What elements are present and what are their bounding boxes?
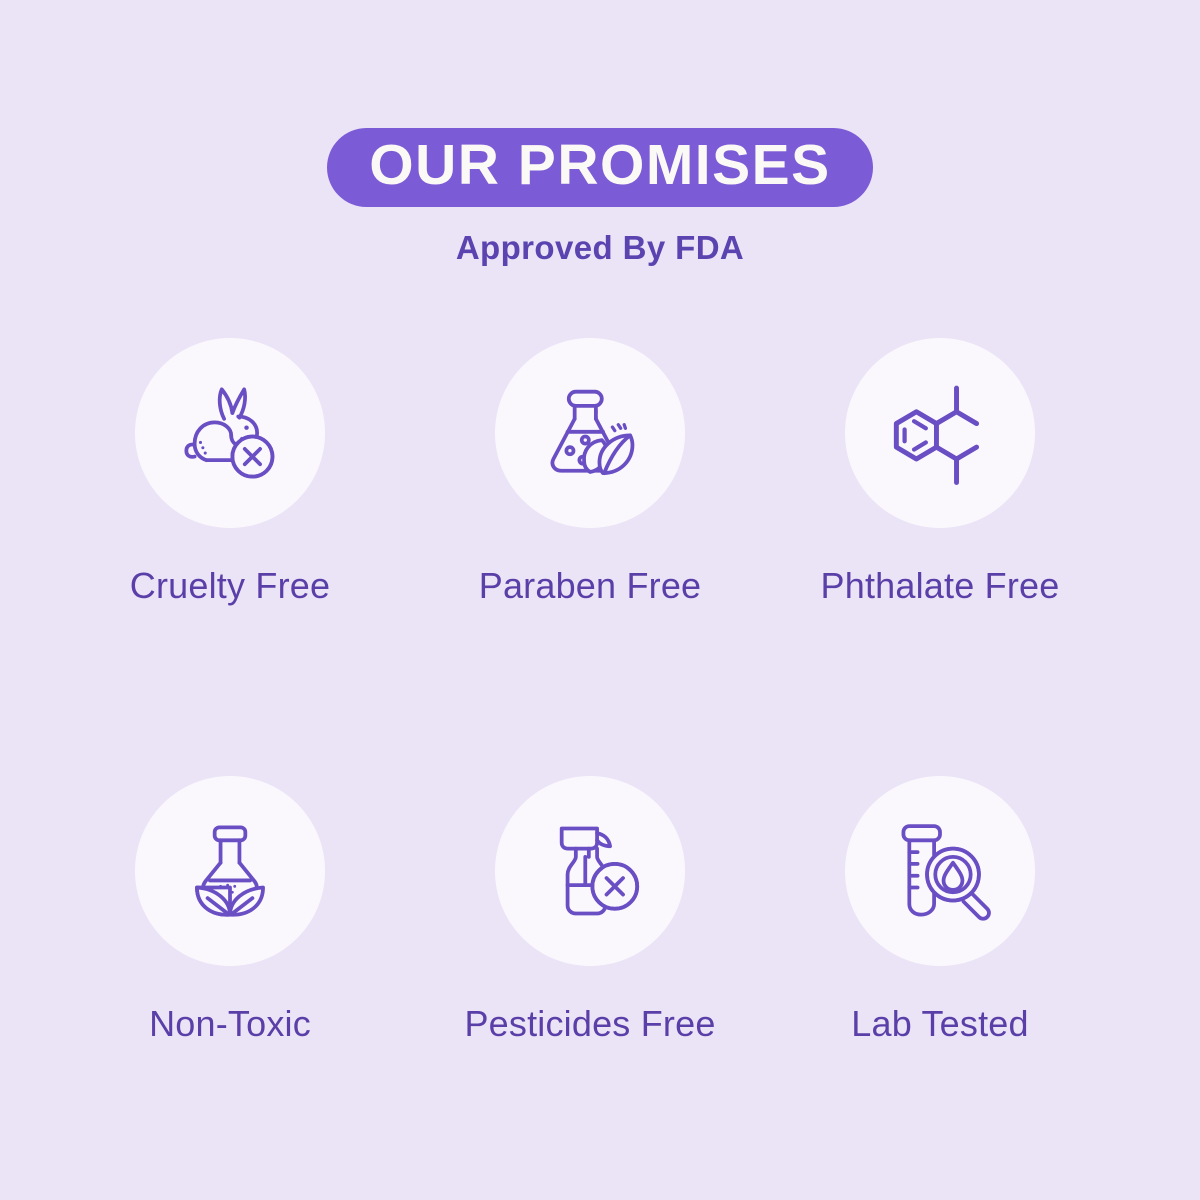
promise-label: Lab Tested	[851, 1003, 1028, 1045]
promise-label: Pesticides Free	[464, 1003, 715, 1045]
promises-row-2: Non-Toxic	[0, 776, 1200, 1045]
promises-row-1: Cruelty Free	[0, 338, 1200, 607]
page-title: OUR PROMISES	[327, 128, 872, 207]
flask-leaf-icon	[531, 374, 649, 492]
promise-item-phthalate-free: Phthalate Free	[765, 338, 1115, 607]
promise-item-paraben-free: Paraben Free	[415, 338, 765, 607]
promises-grid: Cruelty Free	[0, 338, 1200, 1045]
promises-infographic: OUR PROMISES Approved By FDA	[0, 0, 1200, 1200]
promise-label: Non-Toxic	[149, 1003, 311, 1045]
icon-circle	[135, 776, 325, 966]
spray-bottle-no-icon	[531, 812, 649, 930]
test-tube-magnifier-icon	[881, 812, 999, 930]
promise-label: Cruelty Free	[130, 565, 330, 607]
header: OUR PROMISES Approved By FDA	[0, 128, 1200, 267]
icon-circle	[495, 776, 685, 966]
promise-label: Paraben Free	[479, 565, 702, 607]
promise-item-lab-tested: Lab Tested	[765, 776, 1115, 1045]
molecule-icon	[881, 374, 999, 492]
promise-item-pesticides-free: Pesticides Free	[415, 776, 765, 1045]
flask-leaves-icon	[171, 812, 289, 930]
subtitle: Approved By FDA	[0, 229, 1200, 267]
icon-circle	[845, 776, 1035, 966]
icon-circle	[495, 338, 685, 528]
icon-circle	[845, 338, 1035, 528]
promise-label: Phthalate Free	[821, 565, 1060, 607]
icon-circle	[135, 338, 325, 528]
rabbit-no-icon	[171, 374, 289, 492]
promise-item-non-toxic: Non-Toxic	[55, 776, 405, 1045]
promise-item-cruelty-free: Cruelty Free	[55, 338, 405, 607]
